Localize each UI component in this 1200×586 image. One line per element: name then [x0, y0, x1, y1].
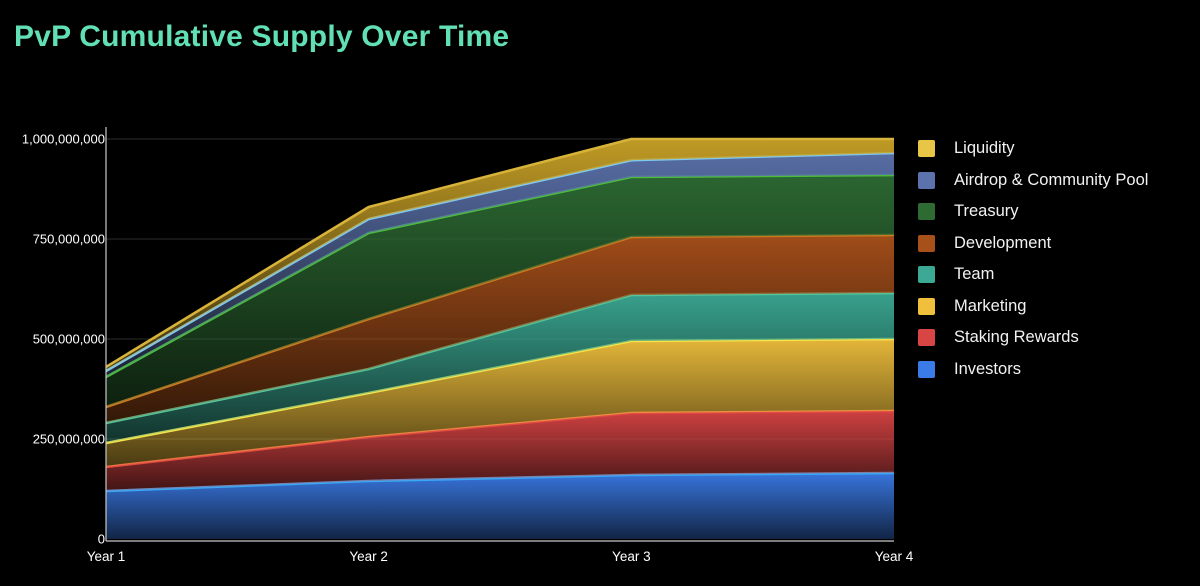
legend-swatch-development	[918, 235, 935, 252]
legend-label-marketing: Marketing	[954, 297, 1026, 316]
legend-swatch-airdrop-community-pool	[918, 172, 935, 189]
legend-label-liquidity: Liquidity	[954, 139, 1015, 158]
legend-swatch-investors	[918, 361, 935, 378]
legend-swatch-liquidity	[918, 140, 935, 157]
legend-label-investors: Investors	[954, 360, 1021, 379]
legend-label-team: Team	[954, 265, 994, 284]
legend-label-development: Development	[954, 234, 1051, 253]
chart-legend: LiquidityAirdrop & Community PoolTreasur…	[918, 133, 1200, 385]
legend-swatch-team	[918, 266, 935, 283]
legend-item-liquidity[interactable]: Liquidity	[918, 133, 1200, 165]
legend-item-team[interactable]: Team	[918, 259, 1200, 291]
legend-label-staking-rewards: Staking Rewards	[954, 328, 1079, 347]
legend-item-staking-rewards[interactable]: Staking Rewards	[918, 322, 1200, 354]
y-axis-tick-label: 750,000,000	[0, 232, 105, 247]
x-axis-tick-label-1: Year 1	[87, 549, 126, 564]
chart-page: PvP Cumulative Supply Over Time 0250,000…	[0, 0, 1200, 586]
legend-item-marketing[interactable]: Marketing	[918, 291, 1200, 323]
legend-label-airdrop-community-pool: Airdrop & Community Pool	[954, 171, 1148, 190]
legend-item-development[interactable]: Development	[918, 228, 1200, 260]
x-axis-tick-label-3: Year 3	[612, 549, 651, 564]
x-axis-tick-label-2: Year 2	[349, 549, 388, 564]
legend-item-investors[interactable]: Investors	[918, 354, 1200, 386]
legend-swatch-staking-rewards	[918, 329, 935, 346]
y-axis-tick-label: 0	[0, 532, 105, 547]
legend-item-treasury[interactable]: Treasury	[918, 196, 1200, 228]
y-axis-tick-label: 500,000,000	[0, 332, 105, 347]
x-axis-tick-label-4: Year 4	[875, 549, 914, 564]
legend-item-airdrop-community-pool[interactable]: Airdrop & Community Pool	[918, 165, 1200, 197]
area-series-group	[106, 139, 894, 539]
legend-swatch-marketing	[918, 298, 935, 315]
legend-label-treasury: Treasury	[954, 202, 1019, 221]
y-axis-tick-label: 250,000,000	[0, 432, 105, 447]
y-axis-tick-label: 1,000,000,000	[0, 132, 105, 147]
legend-swatch-treasury	[918, 203, 935, 220]
